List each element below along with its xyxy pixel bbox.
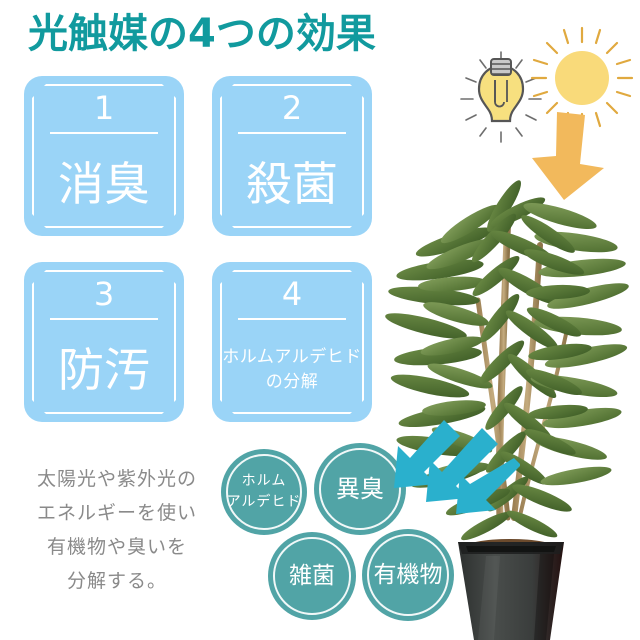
effect-card-3[interactable]: 3 防汚 xyxy=(24,262,184,422)
effect-number-2: 2 xyxy=(212,90,372,126)
target-circle-formaldehyde[interactable]: ホルム アルデヒド xyxy=(221,449,307,535)
circle-label-line2: アルデヒド xyxy=(227,492,302,513)
circle-label: 有機物 xyxy=(374,562,443,589)
description-line-3: 有機物や臭いを xyxy=(22,530,212,564)
effect-card-4[interactable]: 4 ホルムアルデヒド の分解 xyxy=(212,262,372,422)
description-line-2: エネルギーを使い xyxy=(22,496,212,530)
effect-number-4: 4 xyxy=(212,276,372,312)
page-title: 光触媒の4つの効果 xyxy=(28,8,376,60)
arrow-down-icon xyxy=(522,108,614,204)
effect-label-3: 防汚 xyxy=(28,324,180,416)
circle-label-line1: ホルム xyxy=(227,471,302,492)
description-paragraph: 太陽光や紫外光の エネルギーを使い 有機物や臭いを 分解する。 xyxy=(22,462,212,598)
arrow-diagonal-icon xyxy=(388,418,520,528)
target-circle-organic-matter[interactable]: 有機物 xyxy=(362,529,454,621)
description-line-1: 太陽光や紫外光の xyxy=(22,462,212,496)
effect-label-4-line2: の分解 xyxy=(222,370,362,395)
effect-label-4: ホルムアルデヒド の分解 xyxy=(216,324,368,416)
infographic-canvas: 光触媒の4つの効果 1 消臭 2 殺菌 3 防汚 4 ホルムアルデヒド の分解 … xyxy=(0,0,640,640)
effect-card-1[interactable]: 1 消臭 xyxy=(24,76,184,236)
circle-label: 雑菌 xyxy=(289,563,335,590)
effect-divider xyxy=(50,132,158,134)
effect-number-1: 1 xyxy=(24,90,184,126)
effect-divider xyxy=(238,318,346,320)
circle-label: 異臭 xyxy=(336,475,384,503)
circle-label: ホルム アルデヒド xyxy=(227,471,302,513)
effect-label-2: 殺菌 xyxy=(216,138,368,230)
effect-card-2[interactable]: 2 殺菌 xyxy=(212,76,372,236)
effect-divider xyxy=(238,132,346,134)
target-circle-bacteria[interactable]: 雑菌 xyxy=(268,532,356,620)
description-line-4: 分解する。 xyxy=(22,564,212,598)
effect-label-1: 消臭 xyxy=(28,138,180,230)
effect-number-3: 3 xyxy=(24,276,184,312)
effect-label-4-line1: ホルムアルデヒド xyxy=(222,345,362,370)
effect-divider xyxy=(50,318,158,320)
